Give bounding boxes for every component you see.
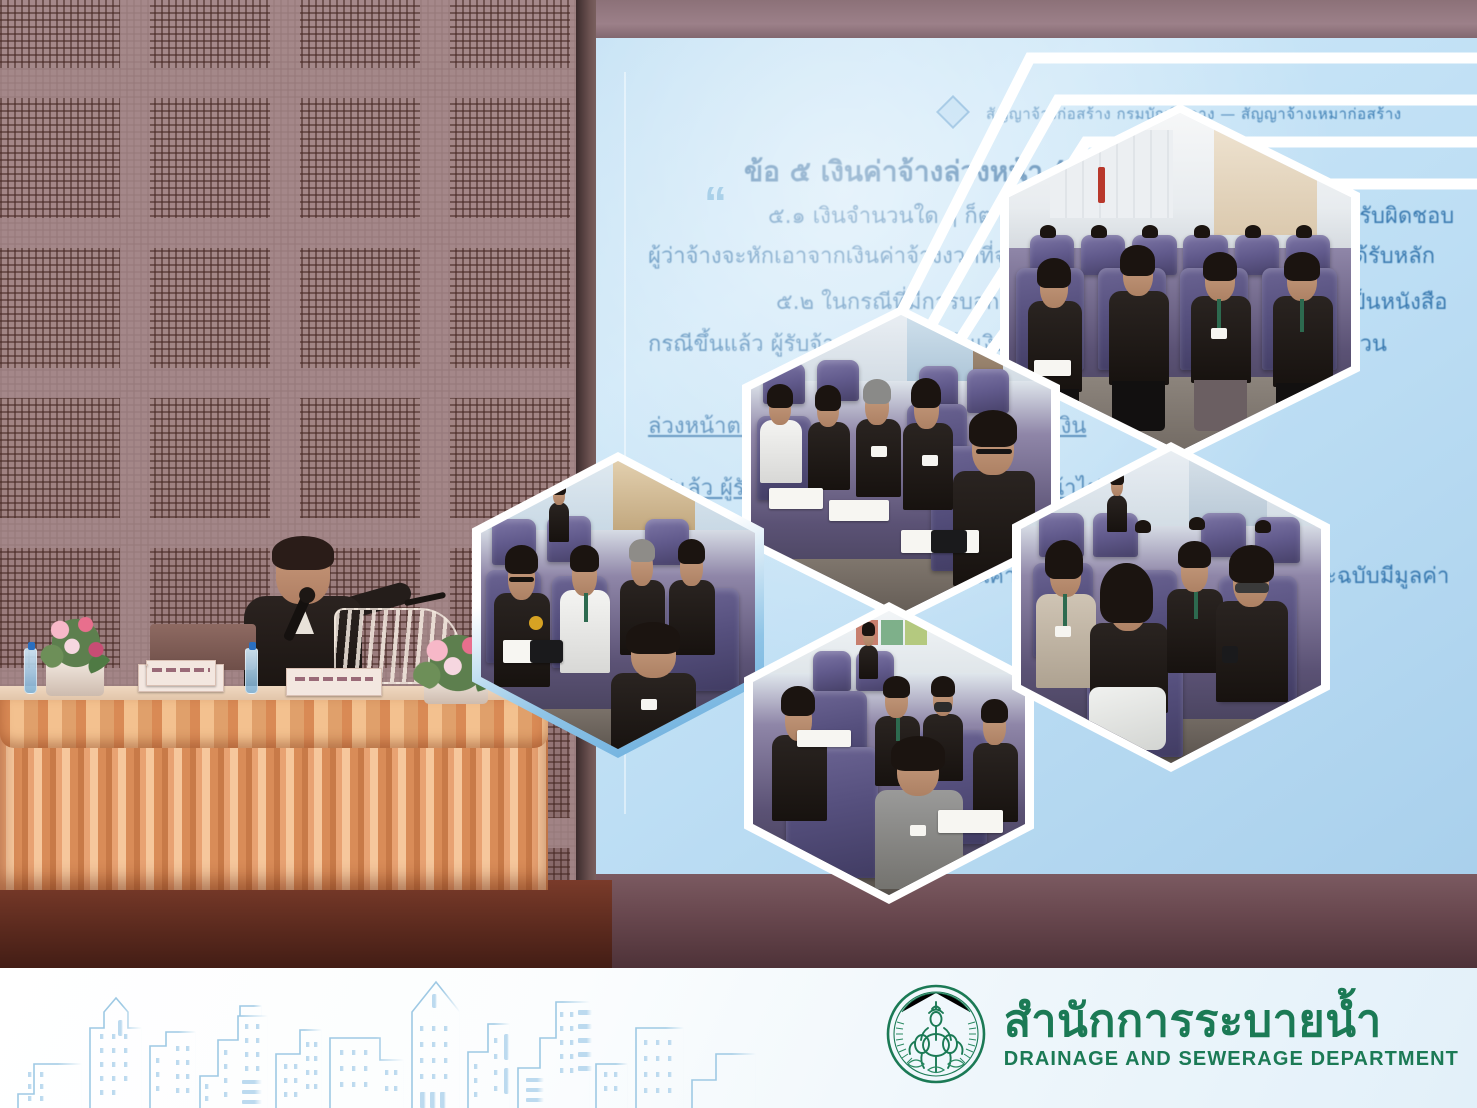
lanyard xyxy=(1063,594,1067,626)
skyline-svg xyxy=(0,968,760,1108)
attendee-hair xyxy=(767,384,793,408)
attendee-hair xyxy=(969,410,1018,446)
auditorium-photo xyxy=(1021,451,1321,763)
attendee-hair xyxy=(815,385,841,411)
attendee-hair xyxy=(678,539,705,564)
attendee-hair xyxy=(1045,540,1083,579)
standing-attendee xyxy=(547,478,572,541)
slide-bullet-diamond-icon xyxy=(936,95,970,129)
distant-attendee-head xyxy=(1142,225,1158,238)
wall-art-panel xyxy=(881,620,903,646)
official-torso xyxy=(1191,296,1251,384)
logo-text-block: สำนักการระบายน้ำ DRAINAGE AND SEWERAGE D… xyxy=(1004,997,1459,1071)
auditorium-photo xyxy=(751,315,1051,613)
attendee-hair xyxy=(505,545,538,574)
attendee-hair xyxy=(626,622,680,654)
name-placard xyxy=(286,668,382,696)
name-badge xyxy=(1055,626,1071,637)
hexagon-photo-inner xyxy=(1021,451,1321,763)
held-document xyxy=(1034,360,1070,376)
mobile-phone-icon xyxy=(1222,646,1238,663)
lanyard xyxy=(1194,592,1198,619)
poster-canvas: สัญญาจ้างก่อสร้าง กรมบัญชีกลาง — สัญญาจ้… xyxy=(0,0,1477,1108)
standing-attendee xyxy=(856,622,880,679)
water-bottle xyxy=(245,648,258,694)
department-logo-lockup: สำนักการระบายน้ำ DRAINAGE AND SEWERAGE D… xyxy=(884,982,1459,1086)
official-3 xyxy=(1187,248,1255,431)
seat xyxy=(967,369,1009,414)
lanyard xyxy=(1217,299,1221,328)
official-legs xyxy=(1112,381,1165,430)
name-badge xyxy=(910,825,926,836)
attendee xyxy=(901,375,955,536)
official-torso xyxy=(1109,291,1169,386)
attendee-hair xyxy=(1229,545,1274,583)
attendee-hair xyxy=(629,539,656,562)
name-badge xyxy=(1211,328,1227,339)
distant-attendee-head xyxy=(1194,225,1210,238)
attendee-hair xyxy=(981,699,1007,724)
attendee-masked-phone xyxy=(1213,545,1291,720)
attendee-torso xyxy=(760,420,802,483)
tablet-device xyxy=(931,530,967,554)
official-hair xyxy=(1120,245,1154,275)
org-name-thai: สำนักการระบายน้ำ xyxy=(1004,997,1459,1044)
attendee-hair xyxy=(862,622,876,636)
attendee-front-left xyxy=(492,542,552,703)
footer-bar: สำนักการระบายน้ำ DRAINAGE AND SEWERAGE D… xyxy=(0,968,1477,1108)
attendee-hair xyxy=(911,378,941,409)
distant-attendee-head xyxy=(1245,225,1261,238)
head-table-valance xyxy=(0,700,548,748)
water-bottle xyxy=(24,648,37,694)
attendee-hair xyxy=(1100,563,1152,623)
face-mask-icon xyxy=(934,702,952,712)
attendee-white-shirt xyxy=(558,542,613,692)
eyeglasses-icon xyxy=(976,449,1012,454)
tablet-device xyxy=(530,640,563,663)
attendee-hair xyxy=(781,686,815,716)
official-hair xyxy=(1037,258,1071,288)
distant-attendee-head xyxy=(1135,520,1151,533)
distant-attendee-head xyxy=(1255,520,1271,533)
auditorium-photo xyxy=(753,611,1025,895)
photo-red-sign xyxy=(1098,167,1105,203)
attendee-hair xyxy=(883,676,909,698)
standing-attendee xyxy=(1105,470,1129,532)
screen-top-band xyxy=(596,0,1477,40)
auditorium-photo xyxy=(481,461,755,749)
hexagon-photo-inner xyxy=(753,611,1025,895)
distant-attendee-head xyxy=(1091,225,1107,238)
hexagon-photo-inner xyxy=(481,461,755,749)
attendee-torso xyxy=(903,423,953,510)
flower-arrangement xyxy=(36,610,116,676)
slide-quote-mark: “ xyxy=(704,176,727,230)
face-mask-icon xyxy=(1235,583,1269,593)
attendee-torso xyxy=(1107,495,1126,532)
official-hair xyxy=(1284,252,1320,281)
bangkok-seal-icon xyxy=(884,982,988,1086)
hexagon-photo-inner xyxy=(751,315,1051,613)
lanyard xyxy=(1300,299,1304,332)
org-name-english: DRAINAGE AND SEWERAGE DEPARTMENT xyxy=(1004,1048,1459,1071)
notes-paper xyxy=(769,488,823,509)
attendee-torso xyxy=(549,502,569,541)
notes-paper xyxy=(797,730,851,747)
city-skyline-graphic xyxy=(0,968,760,1108)
official-trousers xyxy=(1194,380,1247,431)
name-placard xyxy=(146,660,216,686)
screen-lower-wall xyxy=(596,874,1477,968)
attendee-hair xyxy=(891,736,945,771)
hexagon-photo-inner xyxy=(1009,113,1351,451)
official-hair xyxy=(1203,252,1237,281)
eyeglasses-icon xyxy=(509,577,534,582)
auditorium-photo xyxy=(1009,113,1351,451)
attendee-torso xyxy=(856,419,901,496)
notes-paper xyxy=(829,500,889,521)
distant-attendee-head xyxy=(1189,517,1205,530)
name-badge xyxy=(641,699,657,710)
attendee-torso xyxy=(772,735,827,821)
name-placard xyxy=(146,664,148,666)
name-badge xyxy=(922,455,938,466)
name-badge xyxy=(871,446,887,457)
attendee-hair xyxy=(570,545,600,572)
attendee-torso xyxy=(808,422,850,491)
attendee-hair xyxy=(863,379,891,404)
attendee-hair xyxy=(1178,541,1210,568)
notes-paper xyxy=(938,810,1003,833)
stage-floor xyxy=(0,880,612,968)
attendee-hair xyxy=(931,676,954,697)
wall-art-panel xyxy=(905,620,927,646)
attendee-woman-foreground xyxy=(1087,563,1171,750)
attendee-left xyxy=(769,685,829,833)
distant-attendee-head xyxy=(1296,225,1312,238)
official-2 xyxy=(1105,241,1173,430)
presenter-hair xyxy=(272,536,334,570)
lanyard xyxy=(584,593,588,623)
distant-attendee-head xyxy=(1040,225,1056,238)
